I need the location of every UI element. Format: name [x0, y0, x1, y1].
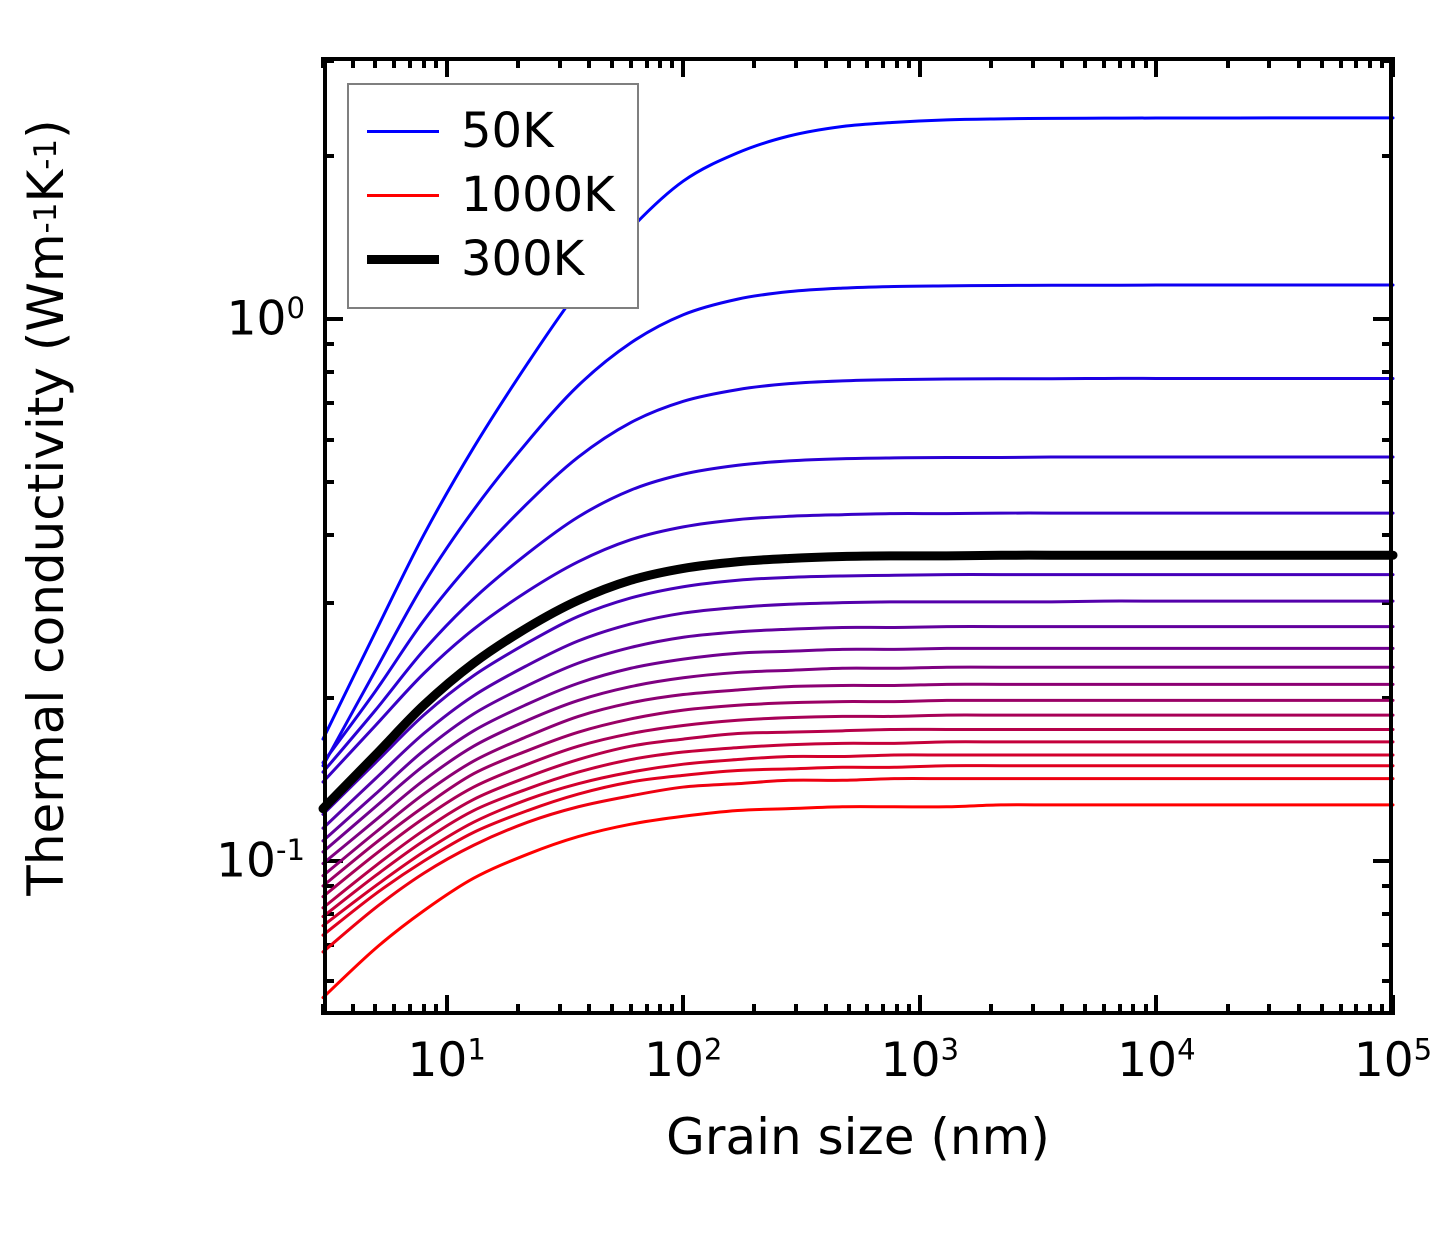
y-tick-base: 10	[216, 834, 276, 889]
legend-label-300K: 300K	[461, 235, 584, 283]
x-tick-base: 10	[1354, 1033, 1414, 1088]
y-tick-base: 10	[227, 292, 287, 347]
legend-item-300K[interactable]: 300K	[367, 227, 615, 291]
figure-canvas: Thermal conductivity (Wm-1K-1) Grain siz…	[0, 0, 1454, 1254]
y-tick-exponent: -1	[276, 833, 305, 867]
y-axis-label-paren: )	[17, 119, 75, 139]
x-tick-base: 10	[1117, 1033, 1177, 1088]
x-tick-label-1e2: 102	[644, 1033, 722, 1088]
x-tick-exponent: 4	[1177, 1032, 1196, 1066]
y-tick-label-1e0: 100	[150, 292, 305, 347]
x-tick-exponent: 3	[940, 1032, 959, 1066]
legend-swatch-50K	[367, 130, 439, 133]
x-tick-base: 10	[408, 1033, 468, 1088]
x-tick-label-1e1: 101	[408, 1033, 486, 1088]
legend-box[interactable]: 50K1000K300K	[347, 83, 639, 309]
x-tick-exponent: 2	[704, 1032, 723, 1066]
x-tick-base: 10	[644, 1033, 704, 1088]
x-axis-label: Grain size (nm)	[323, 1108, 1393, 1166]
legend-swatch-1000K	[367, 194, 439, 197]
x-tick-base: 10	[881, 1033, 941, 1088]
y-axis-label-kelvin: K	[17, 170, 75, 203]
x-tick-label-1e5: 105	[1354, 1033, 1432, 1088]
legend-item-1000K[interactable]: 1000K	[367, 163, 615, 227]
legend-label-50K: 50K	[461, 107, 554, 155]
legend-item-50K[interactable]: 50K	[367, 99, 615, 163]
y-axis-label: Thermal conductivity (Wm-1K-1)	[0, 0, 92, 1015]
x-tick-exponent: 1	[467, 1032, 486, 1066]
y-tick-exponent: 0	[286, 291, 305, 325]
x-tick-exponent: 5	[1414, 1032, 1433, 1066]
legend-swatch-300K	[367, 255, 439, 264]
x-tick-label-1e3: 103	[881, 1033, 959, 1088]
y-axis-label-text: Thermal conductivity (Wm	[17, 233, 75, 895]
y-tick-label-1e-1: 10-1	[150, 834, 305, 889]
legend-label-1000K: 1000K	[461, 171, 615, 219]
x-tick-label-1e4: 104	[1117, 1033, 1195, 1088]
